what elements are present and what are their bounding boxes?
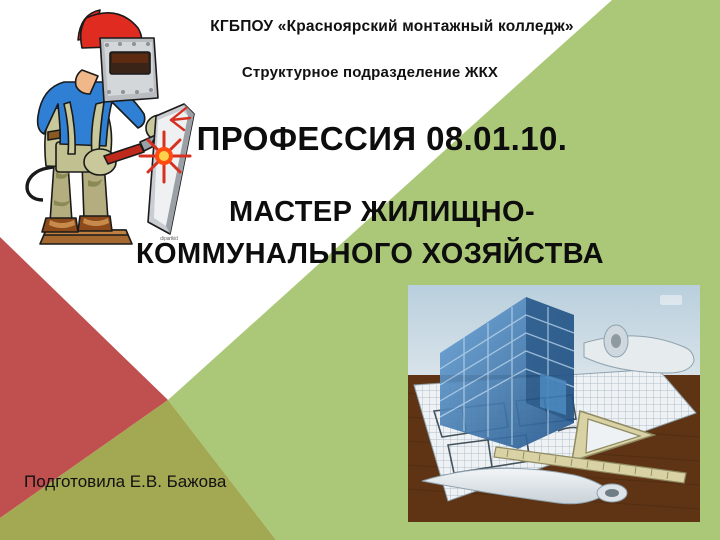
presentation-slide: КГБПОУ «Красноярский монтажный колледж» … (0, 0, 720, 540)
page-title-line-1: ПРОФЕССИЯ 08.01.10. (0, 120, 720, 158)
institution-name: КГБПОУ «Красноярский монтажный колледж» (0, 18, 720, 36)
clipart-watermark: clipartkid (160, 236, 178, 242)
department-name: Структурное подразделение ЖКХ (0, 64, 720, 81)
blueprint-photo (408, 285, 700, 522)
page-title-line-2: МАСТЕР ЖИЛИЩНО- (0, 196, 720, 229)
page-title-line-3: КОММУНАЛЬНОГО ХОЗЯЙСТВА (0, 238, 720, 271)
author-credit: Подготовила Е.В. Бажова (24, 472, 226, 492)
